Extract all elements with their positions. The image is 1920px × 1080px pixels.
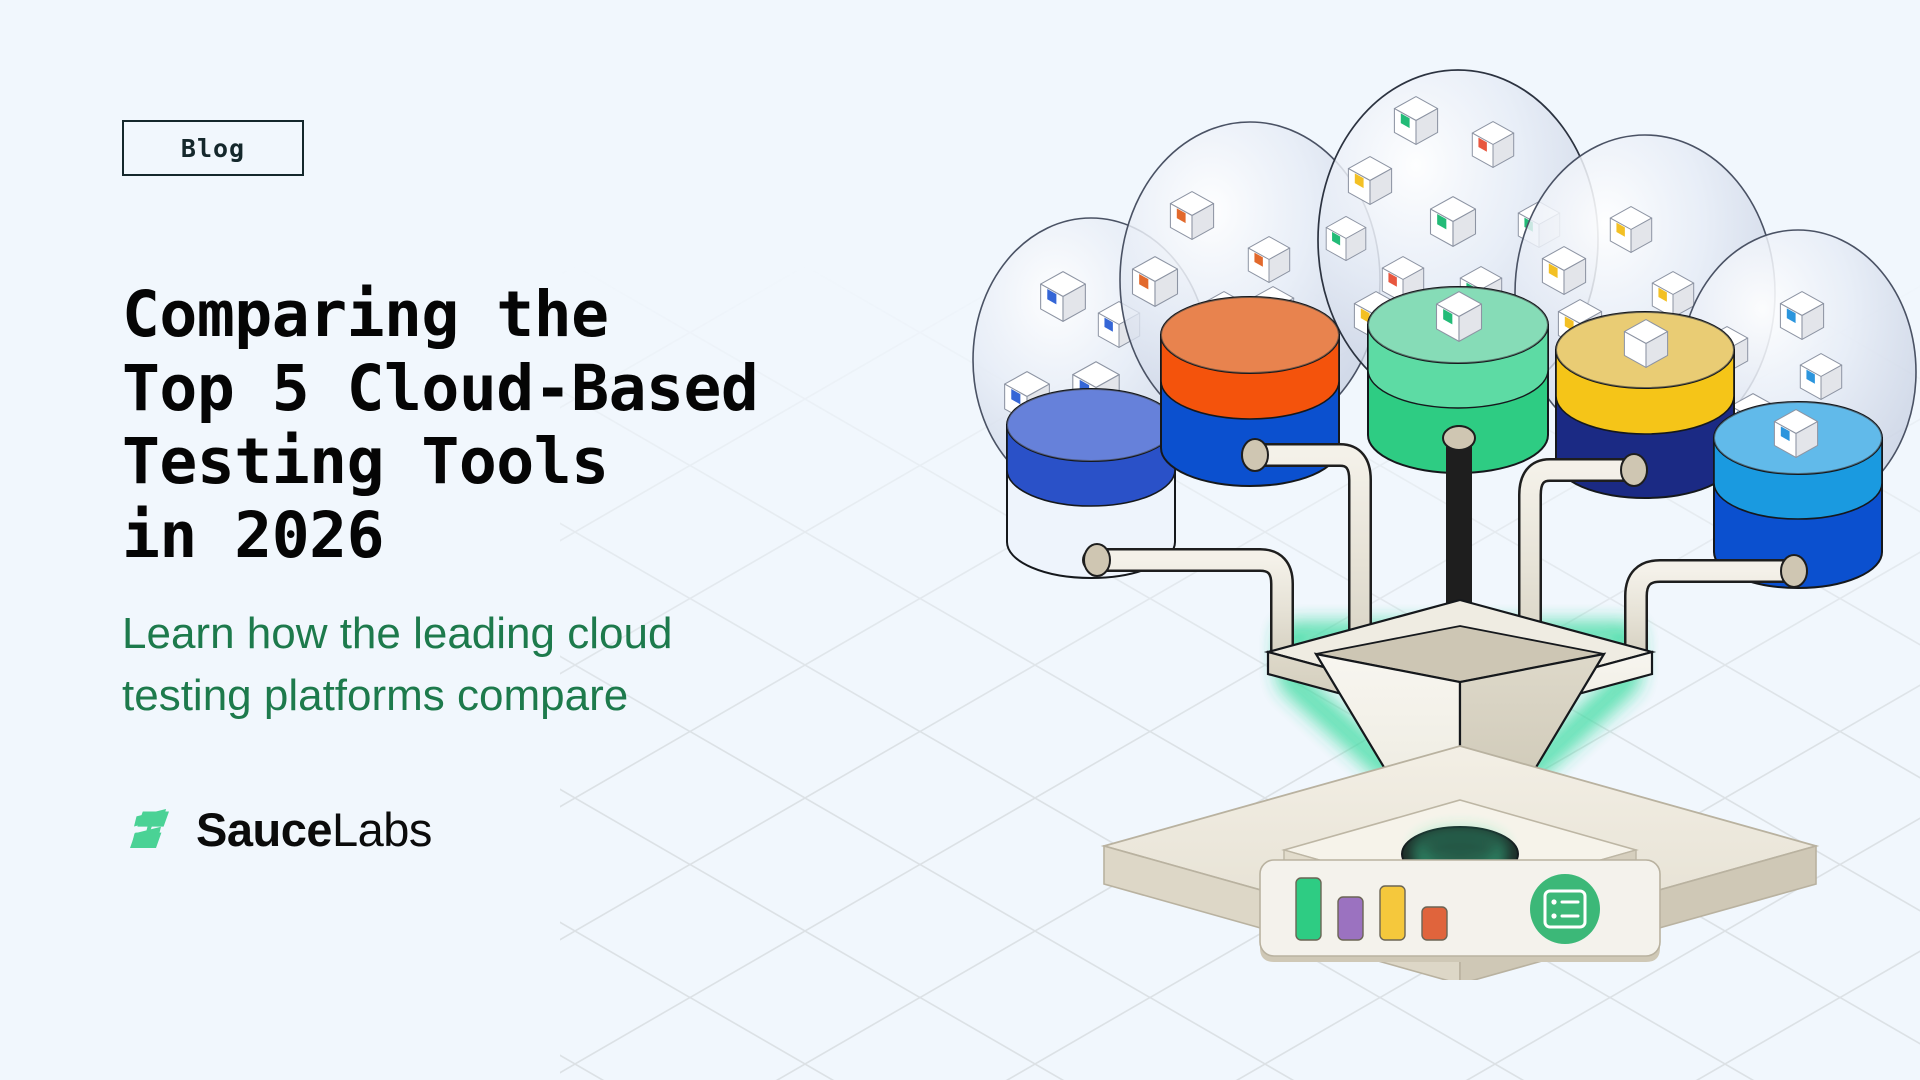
saucelabs-logo[interactable]: SauceLabs — [122, 802, 922, 858]
page-subtitle: Learn how the leading cloud testing plat… — [122, 603, 922, 728]
results-report-card[interactable] — [1260, 860, 1660, 962]
report-list-icon — [1530, 874, 1600, 944]
page-title: Comparing the Top 5 Cloud-Based Testing … — [122, 278, 922, 573]
logo-sauce-text: Sauce — [196, 803, 332, 856]
hero-text-column: Blog Comparing the Top 5 Cloud-Based Tes… — [122, 0, 922, 1080]
logo-labs-text: Labs — [332, 803, 432, 856]
blog-badge-label: Blog — [181, 134, 245, 163]
saucelabs-mark-icon — [122, 802, 178, 858]
blog-badge[interactable]: Blog — [122, 120, 304, 176]
saucelabs-wordmark: SauceLabs — [196, 806, 432, 853]
cloud-testing-funnel-illustration — [960, 40, 1920, 980]
